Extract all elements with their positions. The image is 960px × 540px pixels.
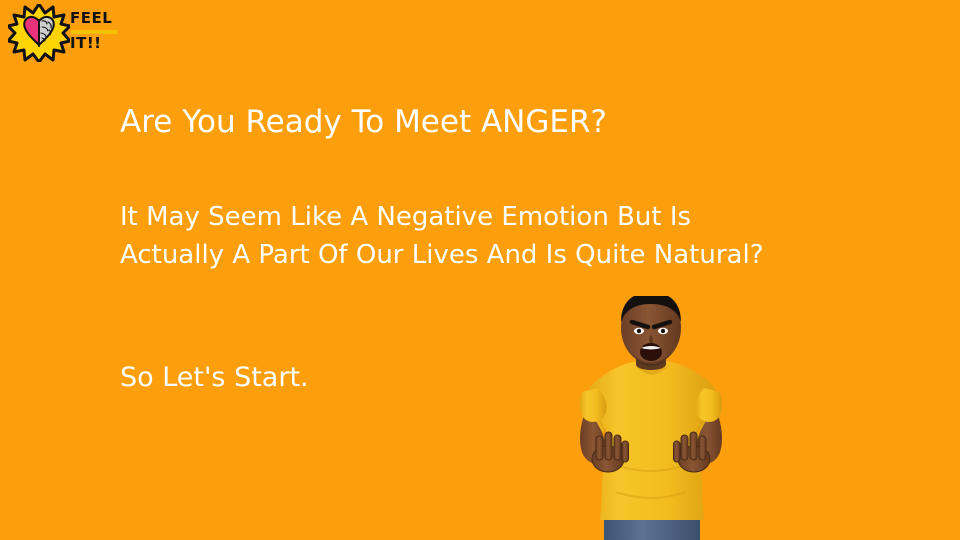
angry-man-photo — [536, 296, 766, 540]
logo-wordmark: FEEL IT!! — [70, 8, 120, 58]
body-copy-line-2: Actually A Part Of Our Lives And Is Quit… — [120, 236, 764, 274]
headline: Are You Ready To Meet ANGER? — [120, 104, 607, 141]
logo-word-feel: FEEL — [70, 11, 112, 26]
closing-text: So Let's Start. — [120, 362, 309, 394]
feel-it-logo[interactable]: FEEL IT!! — [8, 2, 120, 64]
slide-canvas: FEEL IT!! Are You Ready To Meet ANGER? I… — [0, 0, 960, 540]
body-copy: It May Seem Like A Negative Emotion But … — [120, 198, 764, 275]
starburst-icon — [8, 4, 70, 62]
body-copy-line-1: It May Seem Like A Negative Emotion But … — [120, 198, 764, 236]
logo-word-it: IT!! — [70, 36, 102, 51]
